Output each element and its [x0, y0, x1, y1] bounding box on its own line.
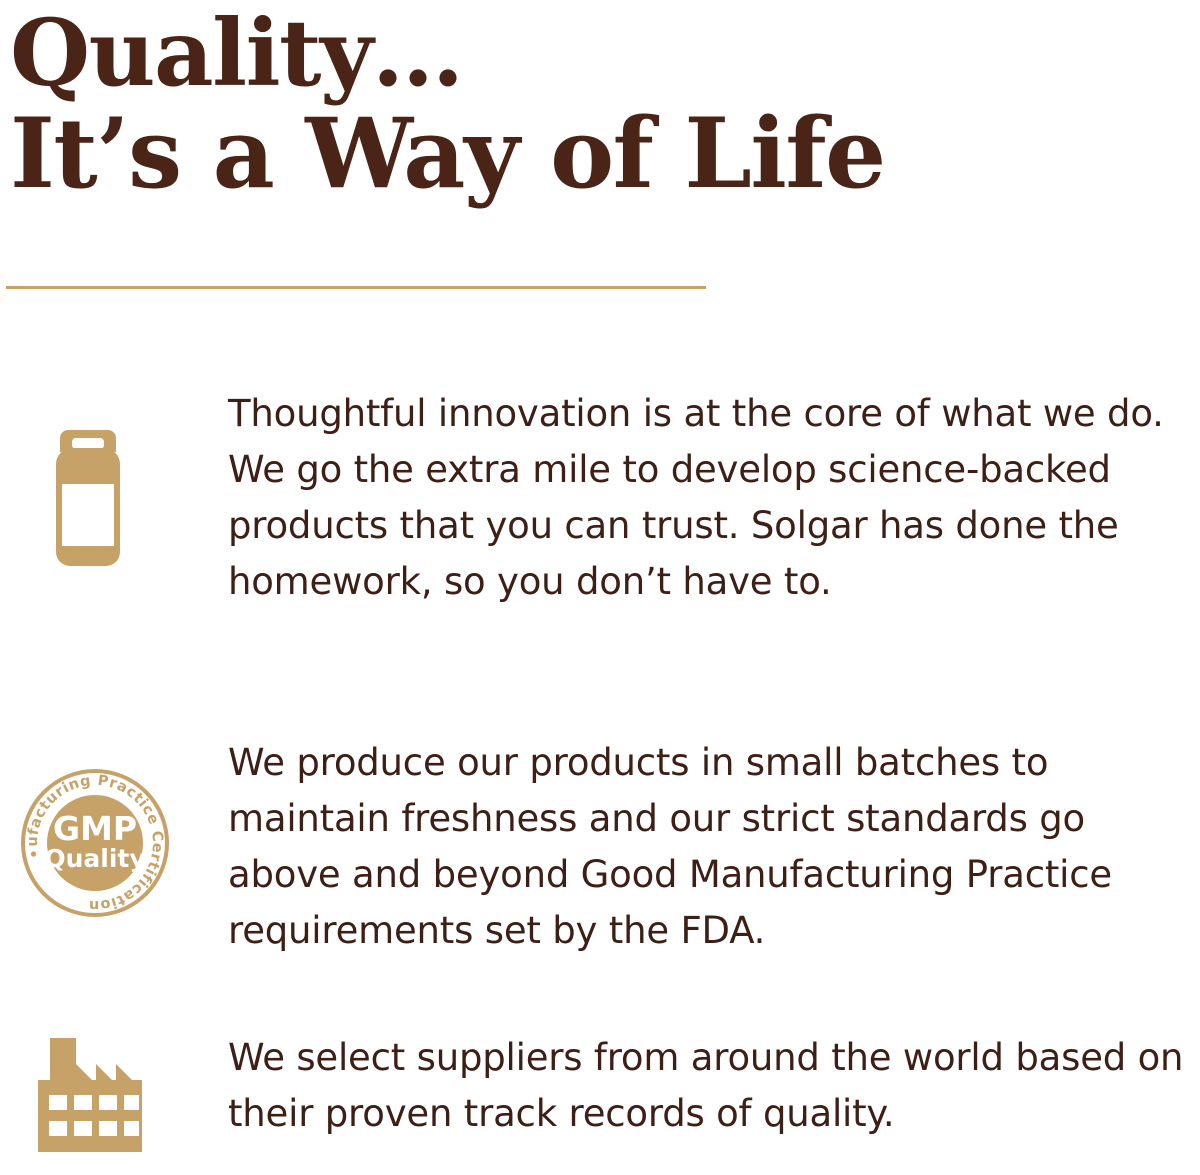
feature-text-cell: Thoughtful innovation is at the core of …: [228, 386, 1200, 610]
supplement-bottle-icon: [42, 428, 134, 568]
page-title-line-1: Quality…: [10, 4, 1110, 102]
feature-row-suppliers: We select suppliers from around the worl…: [0, 1030, 1200, 1152]
feature-text-suppliers: We select suppliers from around the worl…: [228, 1030, 1194, 1142]
feature-icon-cell: Good Manufacturing Practice Certificatio…: [0, 735, 228, 918]
page-title: Quality… It’s a Way of Life: [10, 4, 1110, 206]
feature-icon-cell: [0, 1030, 228, 1152]
feature-icon-cell: [0, 386, 228, 568]
gmp-quality-seal-icon: Good Manufacturing Practice Certificatio…: [20, 768, 170, 918]
gmp-center-line-2: Quality: [44, 844, 145, 873]
gmp-center-line-1: GMP: [53, 809, 137, 848]
factory-icon: [36, 1038, 148, 1152]
gold-divider-rule: [6, 286, 706, 289]
feature-row-innovation: Thoughtful innovation is at the core of …: [0, 386, 1200, 610]
page-title-line-2: It’s a Way of Life: [10, 102, 1110, 206]
feature-text-cell: We select suppliers from around the worl…: [228, 1030, 1200, 1142]
feature-text-gmp: We produce our products in small batches…: [228, 735, 1194, 959]
feature-text-cell: We produce our products in small batches…: [228, 735, 1200, 959]
feature-row-gmp: Good Manufacturing Practice Certificatio…: [0, 735, 1200, 959]
gmp-separator-dot: [31, 851, 36, 856]
feature-text-innovation: Thoughtful innovation is at the core of …: [228, 386, 1194, 610]
